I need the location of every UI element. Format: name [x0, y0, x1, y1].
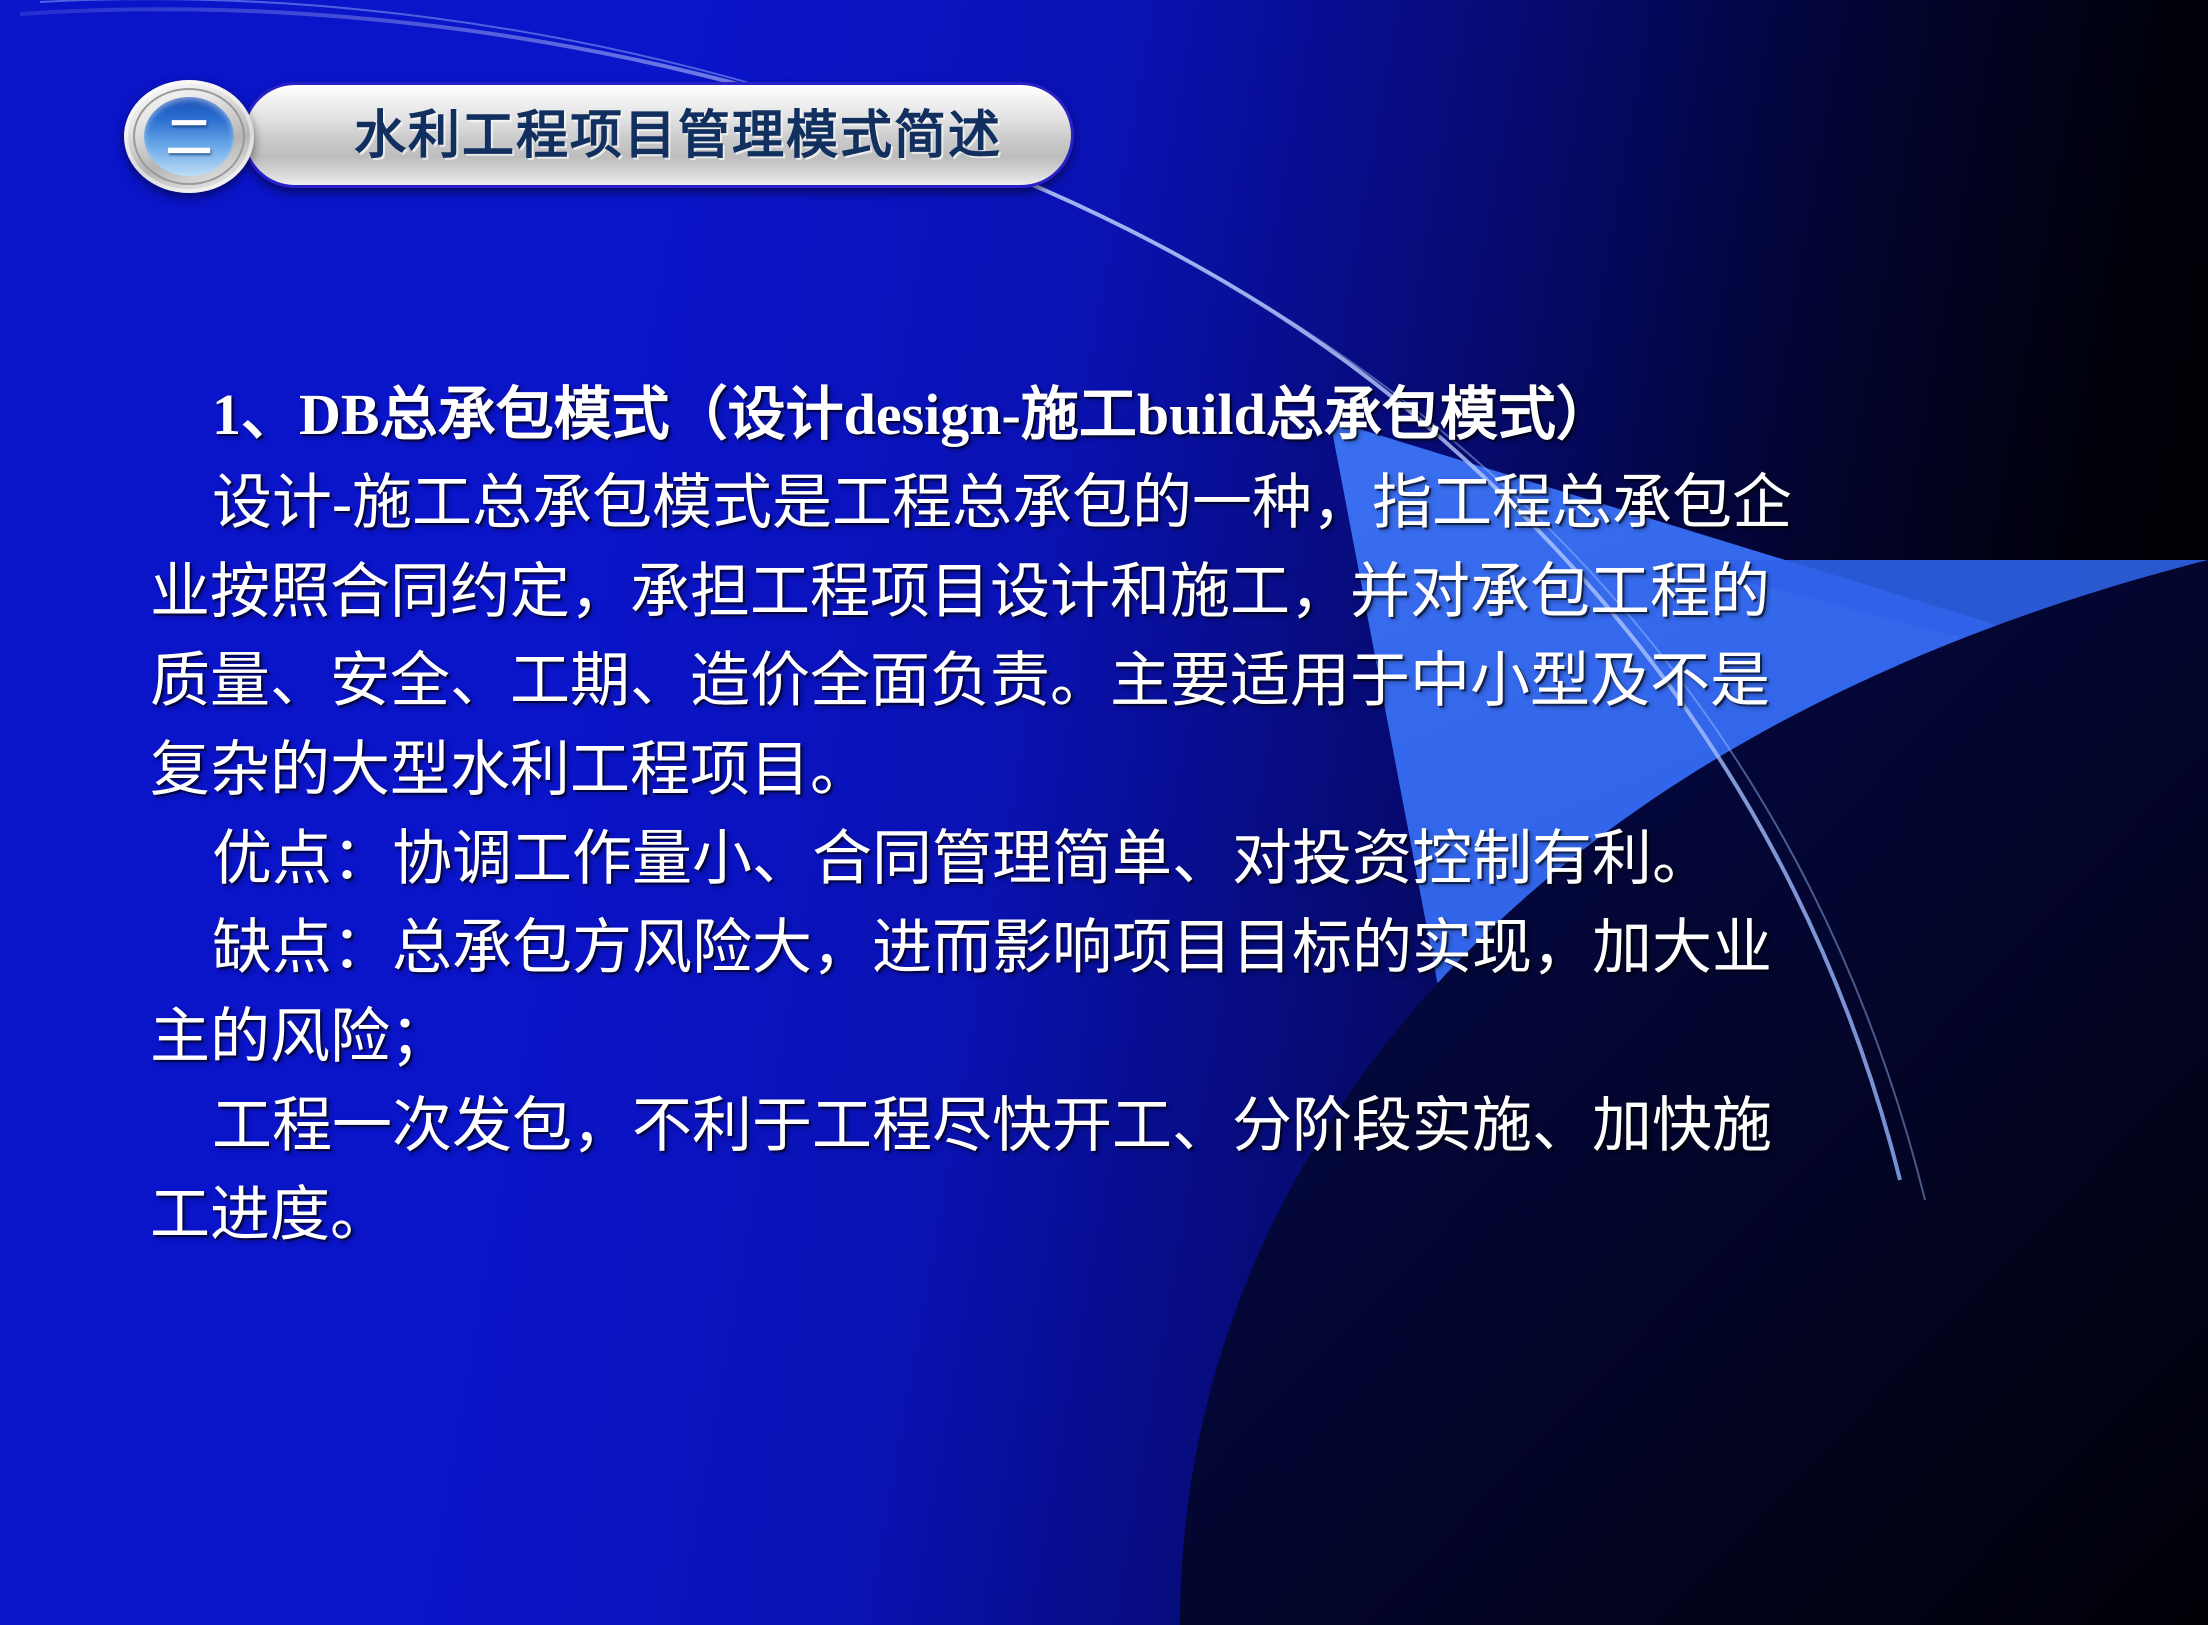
body-line: 工进度。 — [150, 1171, 2110, 1260]
paragraph-advantages: 优点：协调工作量小、合同管理简单、对投资控制有利。 — [150, 815, 2110, 904]
section-number-badge-icon: 二 — [124, 80, 254, 193]
slide-title-bar: 水利工程项目管理模式简述 二 — [124, 80, 1074, 190]
badge-number-label: 二 — [166, 114, 212, 160]
paragraph-definition: 设计-施工总承包模式是工程总承包的一种，指工程总承包企 业按照合同约定，承担工程… — [150, 459, 2110, 815]
page-title: 水利工程项目管理模式简述 — [354, 80, 1002, 190]
body-line: 缺点：总承包方风险大，进而影响项目目标的实现，加大业 — [150, 904, 2110, 993]
body-line: 复杂的大型水利工程项目。 — [150, 726, 2110, 815]
presentation-slide: 水利工程项目管理模式简述 二 1、DB总承包模式（设计design-施工buil… — [0, 0, 2208, 1625]
paragraph-disadvantages: 缺点：总承包方风险大，进而影响项目目标的实现，加大业 主的风险； — [150, 904, 2110, 1082]
body-line: 工程一次发包，不利于工程尽快开工、分阶段实施、加快施 — [150, 1082, 2110, 1171]
body-line: 业按照合同约定，承担工程项目设计和施工，并对承包工程的 — [150, 548, 2110, 637]
paragraph-disadvantages-continued: 工程一次发包，不利于工程尽快开工、分阶段实施、加快施 工进度。 — [150, 1082, 2110, 1260]
body-line: 设计-施工总承包模式是工程总承包的一种，指工程总承包企 — [150, 459, 2110, 548]
body-heading: 1、DB总承包模式（设计design-施工build总承包模式） — [150, 370, 2110, 459]
body-line: 质量、安全、工期、造价全面负责。主要适用于中小型及不是 — [150, 637, 2110, 726]
badge-core: 二 — [144, 97, 234, 176]
body-line: 优点：协调工作量小、合同管理简单、对投资控制有利。 — [150, 815, 2110, 904]
slide-body: 1、DB总承包模式（设计design-施工build总承包模式） 设计-施工总承… — [150, 370, 2110, 1260]
body-line: 主的风险； — [150, 993, 2110, 1082]
